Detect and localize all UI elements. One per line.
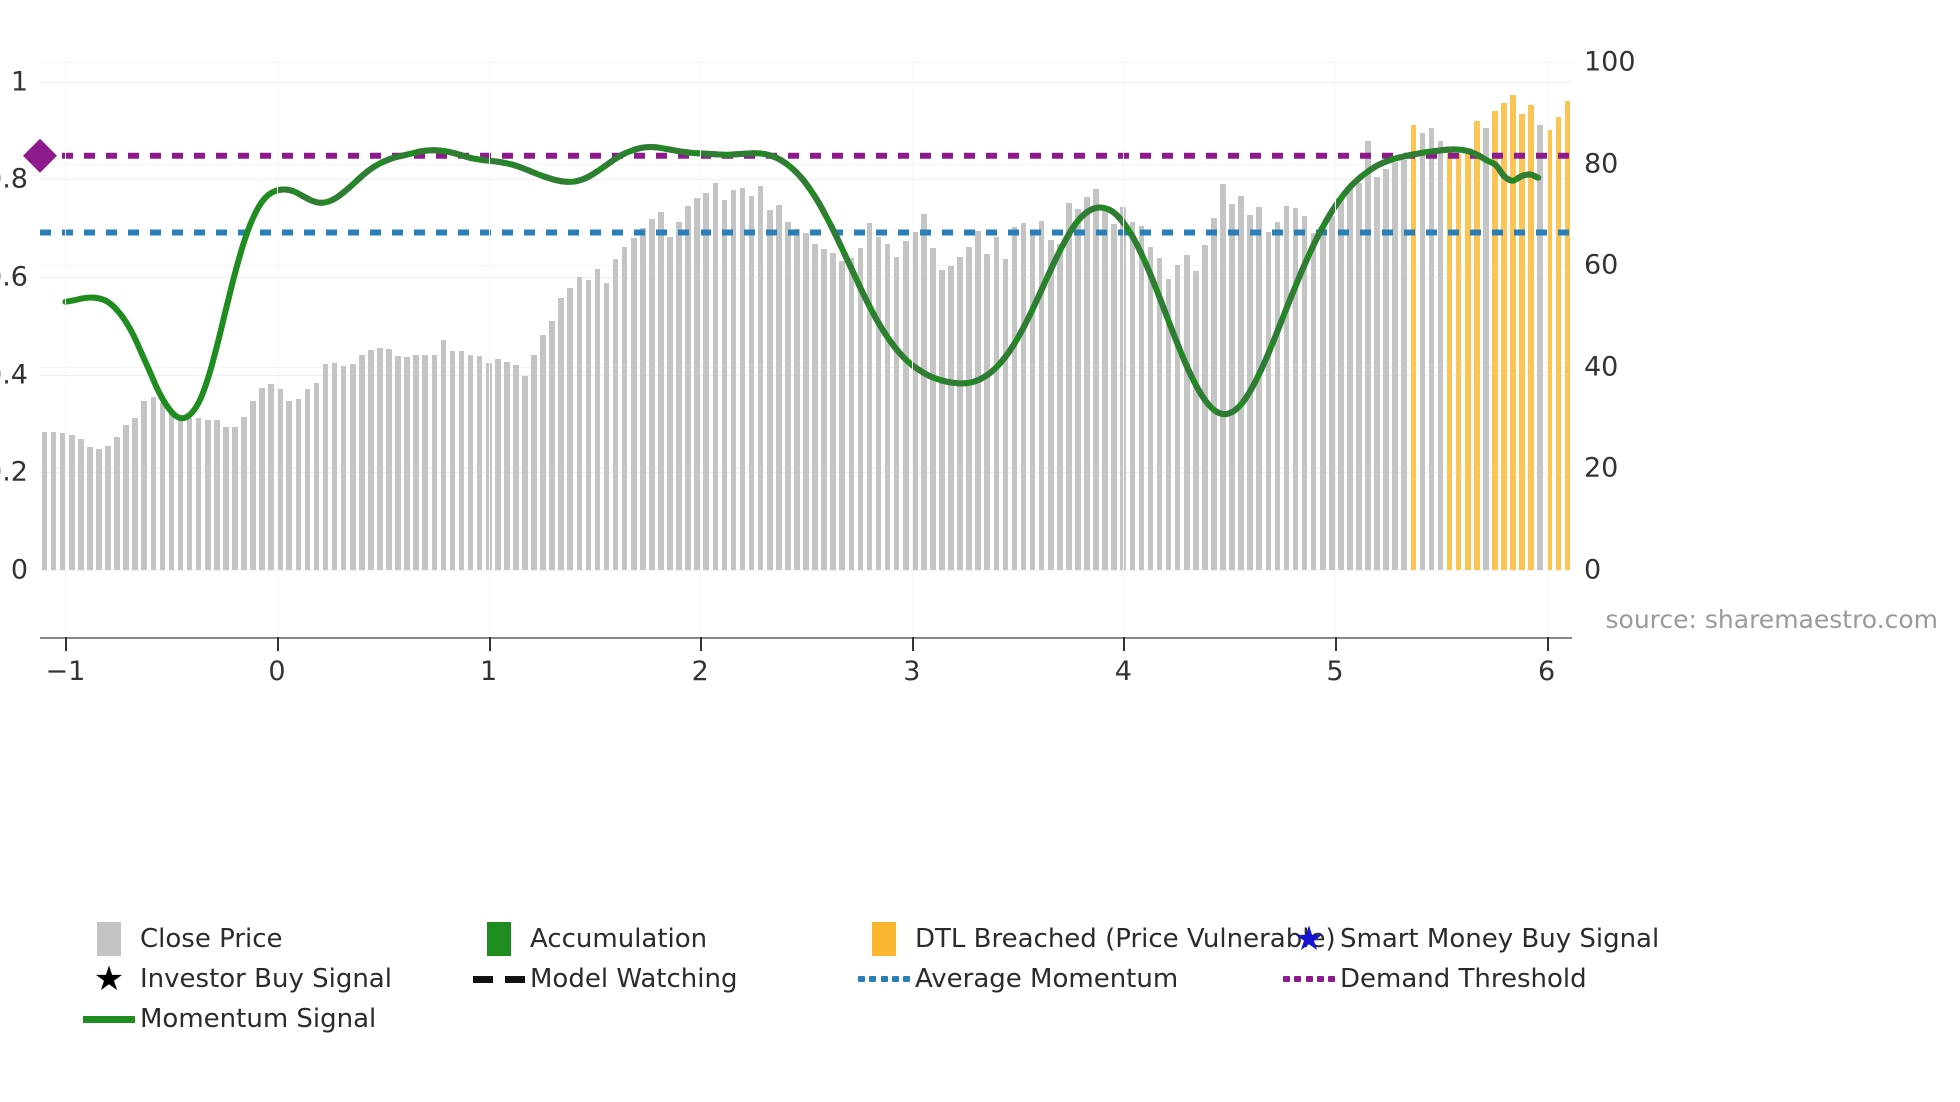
chart-canvas: 00.20.40.60.81 020406080100 −10123456 so… bbox=[0, 0, 1960, 1102]
x-tick-label: 5 bbox=[1326, 658, 1343, 685]
right-y-tick-label: 20 bbox=[1584, 455, 1618, 482]
close-price-swatch bbox=[78, 922, 140, 956]
vertical-gridline bbox=[700, 62, 701, 637]
vertical-gridline bbox=[65, 62, 66, 637]
chart-legend: Close PriceAccumulationDTL Breached (Pri… bbox=[78, 920, 1938, 1040]
x-tick-mark bbox=[1547, 637, 1549, 651]
x-tick-mark bbox=[700, 637, 702, 651]
legend-item-demand-threshold[interactable]: Demand Threshold bbox=[1278, 960, 1587, 998]
line-series-layer bbox=[40, 62, 1572, 570]
demand-threshold-diamond-marker bbox=[23, 139, 57, 173]
x-tick-mark bbox=[489, 637, 491, 651]
momentum-signal-line-icon bbox=[78, 1016, 140, 1023]
x-tick-label: 3 bbox=[903, 658, 920, 685]
legend-item-average-momentum[interactable]: Average Momentum bbox=[853, 960, 1178, 998]
source-note: source: sharemaestro.com bbox=[1606, 607, 1939, 632]
left-y-tick-label: 0 bbox=[11, 557, 28, 584]
legend-row: Momentum Signal bbox=[78, 1000, 1938, 1038]
legend-label: Average Momentum bbox=[915, 966, 1178, 992]
legend-label: DTL Breached (Price Vulnerable) bbox=[915, 926, 1336, 952]
left-y-tick-label: 0.8 bbox=[0, 166, 28, 193]
x-tick-label: 0 bbox=[268, 658, 285, 685]
average-momentum-dot-icon bbox=[853, 976, 915, 982]
legend-label: Close Price bbox=[140, 926, 283, 952]
x-axis-line bbox=[40, 637, 1572, 639]
legend-label: Smart Money Buy Signal bbox=[1340, 926, 1659, 952]
right-y-tick-label: 60 bbox=[1584, 252, 1618, 279]
vertical-gridline bbox=[912, 62, 913, 637]
x-tick-mark bbox=[1123, 637, 1125, 651]
plot-area bbox=[40, 62, 1572, 570]
right-y-tick-label: 0 bbox=[1584, 557, 1601, 584]
smart-money-star-icon: ★ bbox=[1278, 922, 1340, 956]
legend-item-momentum-signal[interactable]: Momentum Signal bbox=[78, 1000, 376, 1038]
gridline-right bbox=[40, 570, 1572, 571]
legend-label: Investor Buy Signal bbox=[140, 966, 392, 992]
legend-row: Close PriceAccumulationDTL Breached (Pri… bbox=[78, 920, 1938, 958]
x-tick-mark bbox=[277, 637, 279, 651]
legend-item-smart-money-buy-signal[interactable]: ★Smart Money Buy Signal bbox=[1278, 920, 1659, 958]
legend-label: Model Watching bbox=[530, 966, 737, 992]
x-tick-mark bbox=[1335, 637, 1337, 651]
legend-item-investor-buy-signal[interactable]: ★Investor Buy Signal bbox=[78, 960, 392, 998]
x-tick-label: 6 bbox=[1538, 658, 1555, 685]
accumulation-overlay-line bbox=[65, 147, 1538, 418]
accumulation-swatch bbox=[468, 922, 530, 956]
legend-label: Momentum Signal bbox=[140, 1006, 376, 1032]
model-watching-dash-icon bbox=[468, 976, 530, 983]
legend-label: Demand Threshold bbox=[1340, 966, 1587, 992]
vertical-gridline bbox=[489, 62, 490, 637]
vertical-gridline bbox=[1335, 62, 1336, 637]
x-tick-mark bbox=[65, 637, 67, 651]
x-tick-label: −1 bbox=[45, 658, 85, 685]
dtl-breached-swatch bbox=[853, 922, 915, 956]
right-y-tick-label: 80 bbox=[1584, 150, 1618, 177]
vertical-gridline bbox=[1547, 62, 1548, 637]
left-y-tick-label: 0.6 bbox=[0, 263, 28, 290]
legend-item-dtl-breached-price-vulnerable[interactable]: DTL Breached (Price Vulnerable) bbox=[853, 920, 1336, 958]
x-tick-label: 2 bbox=[692, 658, 709, 685]
right-y-tick-label: 100 bbox=[1584, 49, 1636, 76]
left-y-tick-label: 1 bbox=[11, 68, 28, 95]
legend-item-close-price[interactable]: Close Price bbox=[78, 920, 283, 958]
x-tick-label: 4 bbox=[1115, 658, 1132, 685]
legend-item-model-watching[interactable]: Model Watching bbox=[468, 960, 737, 998]
legend-label: Accumulation bbox=[530, 926, 707, 952]
vertical-gridline bbox=[1123, 62, 1124, 637]
left-y-tick-label: 0.2 bbox=[0, 459, 28, 486]
legend-item-accumulation[interactable]: Accumulation bbox=[468, 920, 707, 958]
legend-row: ★Investor Buy SignalModel WatchingAverag… bbox=[78, 960, 1938, 998]
x-tick-label: 1 bbox=[480, 658, 497, 685]
left-y-tick-label: 0.4 bbox=[0, 361, 28, 388]
demand-threshold-dot-icon bbox=[1278, 976, 1340, 982]
right-y-tick-label: 40 bbox=[1584, 353, 1618, 380]
vertical-gridline bbox=[277, 62, 278, 637]
investor-star-icon: ★ bbox=[78, 962, 140, 996]
x-tick-mark bbox=[912, 637, 914, 651]
